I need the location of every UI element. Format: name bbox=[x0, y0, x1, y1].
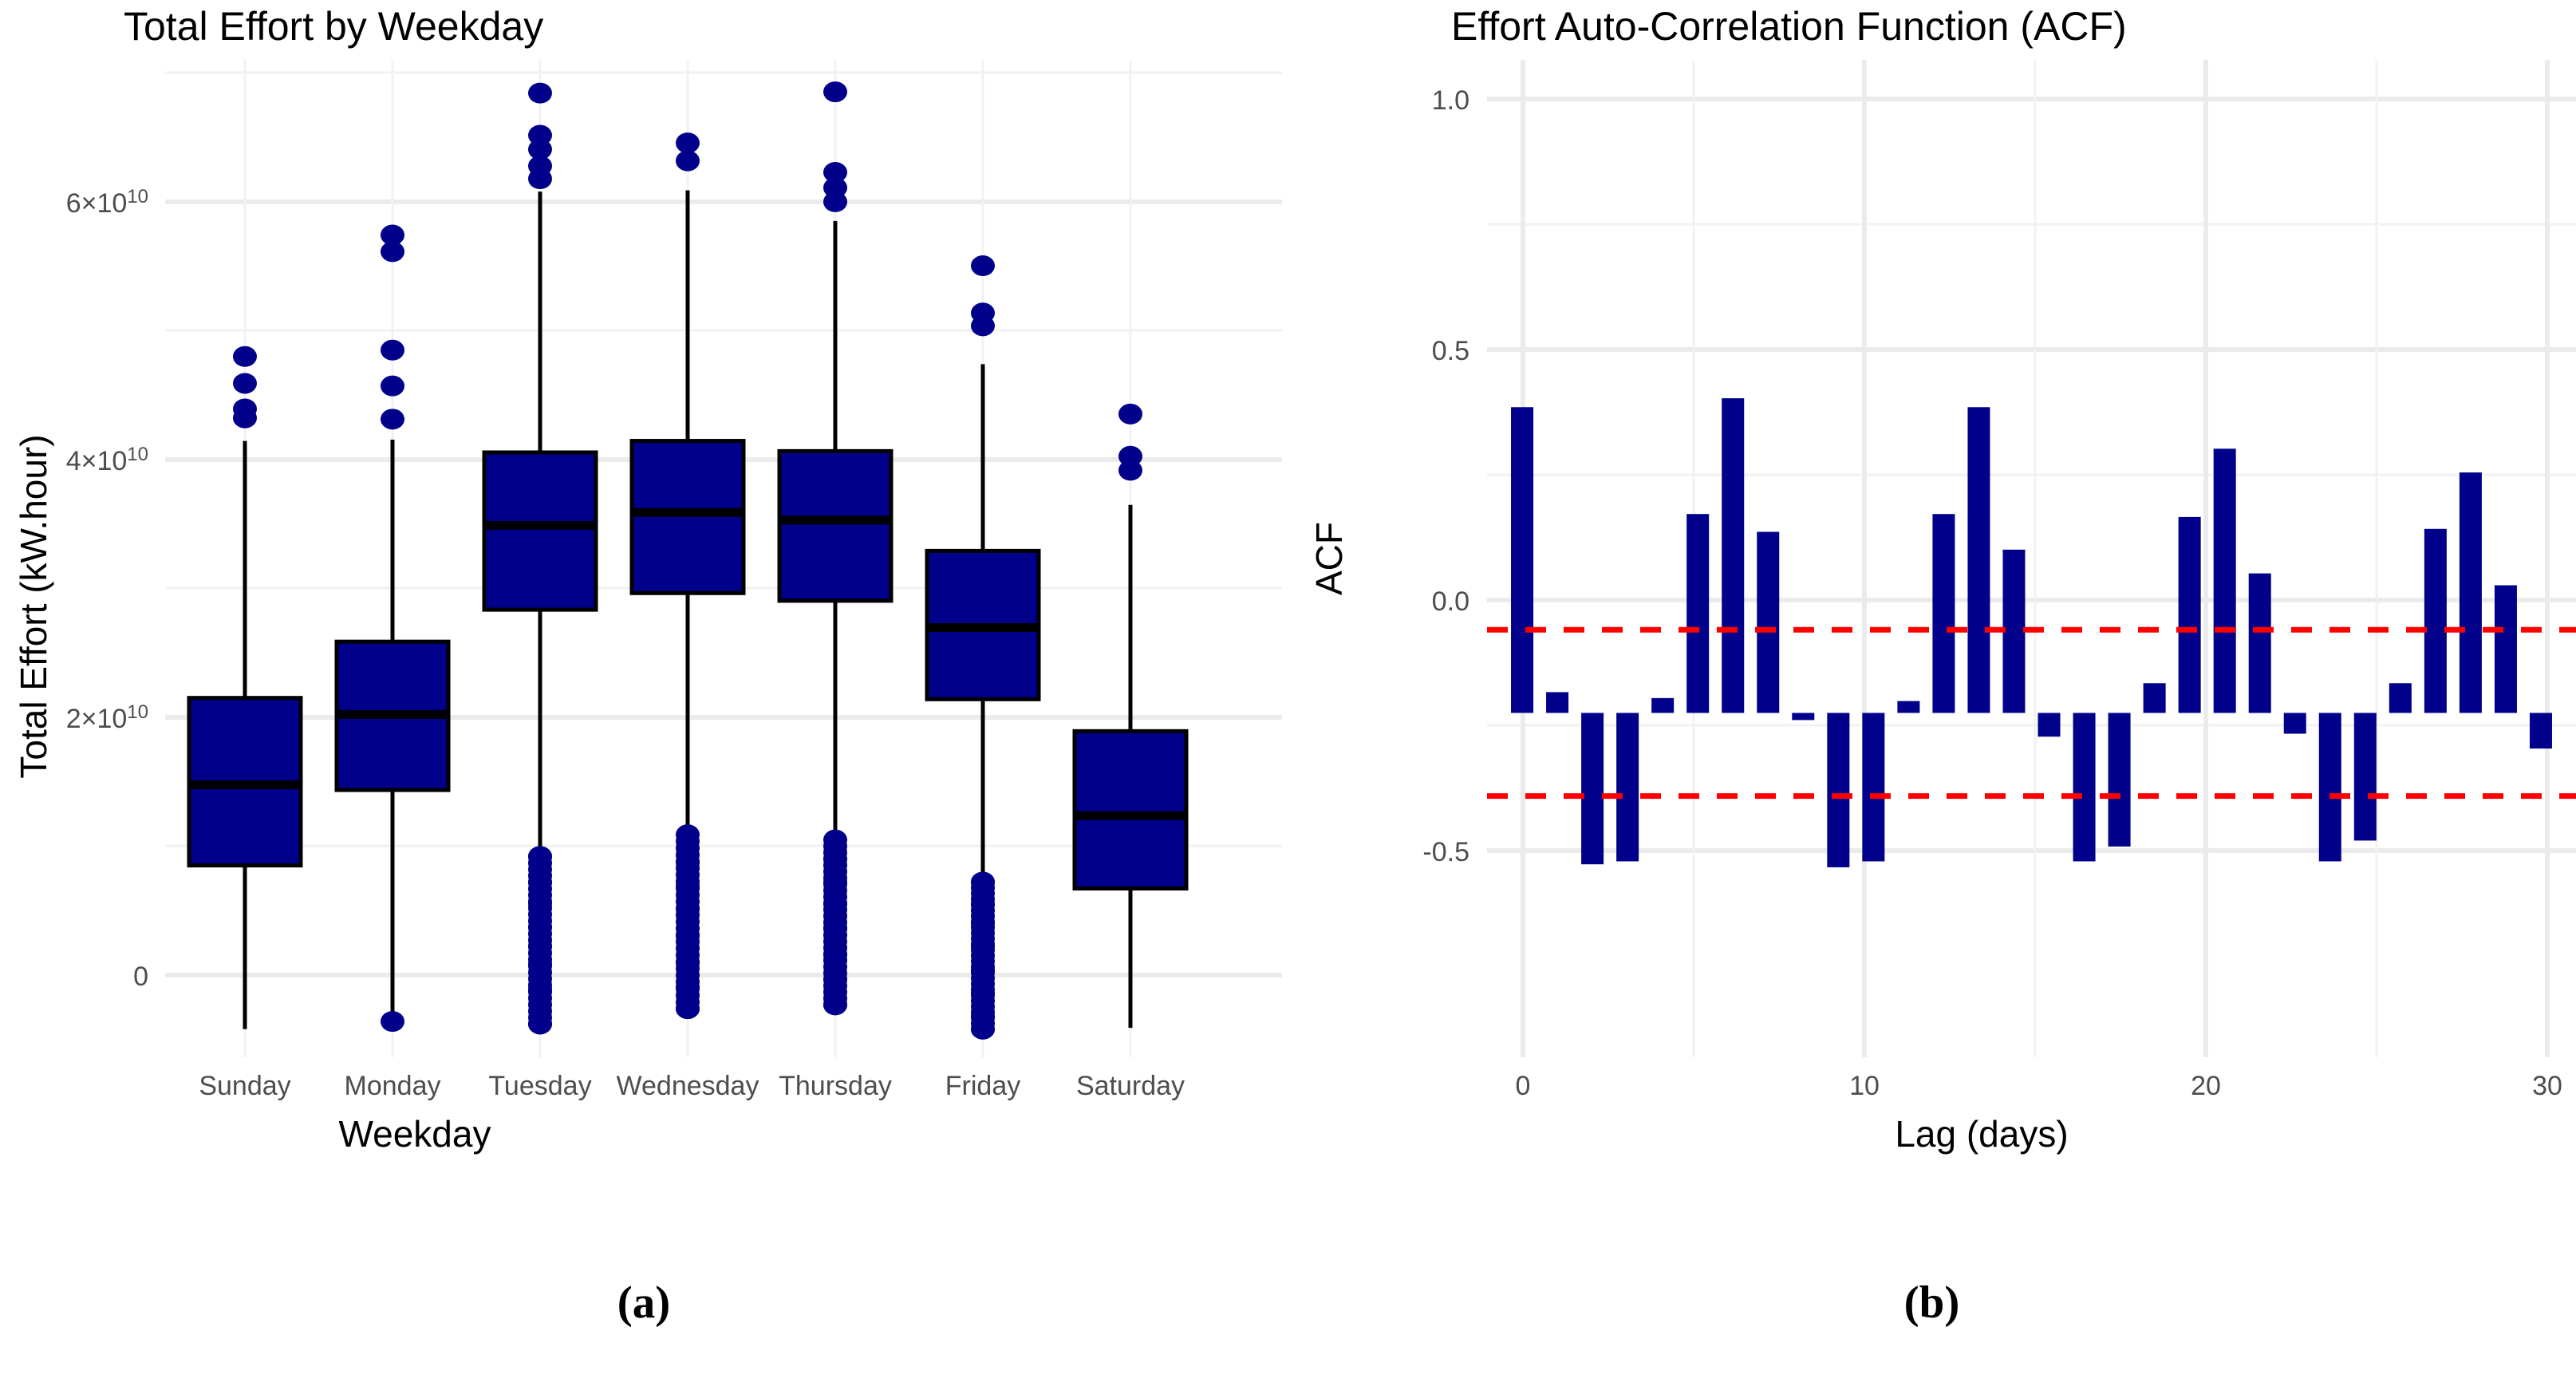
x-tick-10: 10 bbox=[1849, 1071, 1880, 1101]
acf-bar-lag-20 bbox=[2179, 517, 2201, 713]
acf-bar-lag-5 bbox=[1651, 698, 1674, 713]
outlier-tuesday-4 bbox=[528, 168, 552, 189]
outlier-sunday-3 bbox=[233, 408, 257, 428]
panel-b-x-axis-title: Lag (days) bbox=[1895, 1113, 2068, 1155]
acf-bar-lag-9 bbox=[1792, 713, 1814, 720]
x-tick-tuesday: Tuesday bbox=[488, 1071, 591, 1101]
figure-container: Total Effort by Weekday Total Effort (kW… bbox=[0, 0, 2576, 1390]
acf-svg: Effort Auto-Correlation Function (ACF) A… bbox=[1288, 0, 2576, 1293]
box-saturday bbox=[1075, 731, 1186, 888]
panel-a-boxplot: Total Effort by Weekday Total Effort (kW… bbox=[0, 0, 1288, 1390]
acf-bar-lag-13 bbox=[1932, 514, 1955, 713]
y-tick-6e10: 6×1010 bbox=[66, 186, 148, 219]
outlier-friday-0 bbox=[971, 255, 995, 276]
y-tick-0: 0 bbox=[133, 962, 148, 992]
outlier-sunday-0 bbox=[233, 346, 257, 367]
acf-bar-lag-8 bbox=[1757, 532, 1779, 713]
boxplot-svg: Total Effort by Weekday Total Effort (kW… bbox=[0, 0, 1288, 1293]
acf-bar-lag-28 bbox=[2460, 472, 2482, 713]
acf-bar-lag-19 bbox=[2144, 683, 2166, 713]
acf-bar-lag-11 bbox=[1862, 713, 1884, 861]
acf-bar-lag-1 bbox=[1511, 407, 1533, 713]
acf-bar-lag-4 bbox=[1616, 713, 1639, 861]
panel-a-y-tick-labels: 0 2×1010 4×1010 6×1010 bbox=[66, 186, 148, 992]
acf-bar-lag-14 bbox=[1967, 407, 1990, 713]
y-tick-4e10: 4×1010 bbox=[66, 444, 148, 476]
box-tuesday bbox=[484, 452, 596, 610]
outlier-thursday-0 bbox=[823, 81, 847, 102]
outlier-cluster-wednesday bbox=[676, 831, 700, 1020]
box-wednesday bbox=[632, 441, 744, 594]
panel-b-plot-background bbox=[1487, 60, 2576, 1057]
acf-bar-lag-6 bbox=[1686, 514, 1709, 713]
acf-bar-lag-12 bbox=[1897, 701, 1919, 713]
x-tick-thursday: Thursday bbox=[779, 1071, 892, 1101]
acf-bar-lag-23 bbox=[2284, 713, 2306, 733]
panel-a-title: Total Effort by Weekday bbox=[124, 4, 543, 49]
outlier-cluster-thursday bbox=[823, 836, 847, 1016]
outlier-tuesday-0 bbox=[528, 83, 552, 104]
x-tick-sunday: Sunday bbox=[199, 1071, 290, 1101]
acf-bar-lag-15 bbox=[2002, 550, 2025, 713]
acf-bar-lag-21 bbox=[2214, 448, 2236, 713]
acf-bar-lag-10 bbox=[1827, 713, 1849, 867]
panel-b-acf: Effort Auto-Correlation Function (ACF) A… bbox=[1288, 0, 2576, 1390]
x-tick-wednesday: Wednesday bbox=[617, 1071, 759, 1101]
acf-bar-lag-3 bbox=[1581, 713, 1604, 864]
acf-bar-lag-7 bbox=[1722, 398, 1744, 713]
y-tick-neg-0-5: -0.5 bbox=[1422, 837, 1469, 867]
panel-a-y-axis-title: Total Effort (kW.hour) bbox=[13, 434, 54, 778]
acf-bar-lag-27 bbox=[2424, 529, 2447, 713]
y-tick-2e10: 2×1010 bbox=[66, 701, 148, 734]
box-thursday bbox=[779, 451, 891, 601]
outlier-monday-4 bbox=[381, 409, 404, 429]
outlier-friday-2 bbox=[971, 315, 995, 336]
acf-bar-lag-24 bbox=[2319, 713, 2341, 861]
outlier-cluster-friday bbox=[971, 871, 995, 1039]
outlier-monday-1 bbox=[381, 241, 404, 262]
x-tick-30: 30 bbox=[2532, 1071, 2562, 1101]
outlier-thursday-3 bbox=[823, 192, 847, 212]
acf-bar-lag-25 bbox=[2354, 713, 2377, 840]
outlier-wednesday-1 bbox=[676, 151, 700, 172]
x-tick-friday: Friday bbox=[945, 1071, 1020, 1101]
outlier-sunday-1 bbox=[233, 373, 257, 393]
outlier-monday-2 bbox=[381, 340, 404, 361]
y-tick-0-5: 0.5 bbox=[1432, 336, 1469, 366]
acf-bar-lag-18 bbox=[2109, 713, 2131, 846]
panel-a-x-axis-title: Weekday bbox=[339, 1113, 491, 1155]
panel-a-x-tick-labels: Sunday Monday Tuesday Wednesday Thursday… bbox=[199, 1071, 1185, 1101]
x-tick-0: 0 bbox=[1516, 1071, 1531, 1101]
outlier-cluster-tuesday bbox=[528, 846, 552, 1034]
outlier-saturday-0 bbox=[1118, 404, 1142, 425]
outlier-monday-3 bbox=[381, 376, 404, 397]
y-tick-0-0: 0.0 bbox=[1432, 586, 1469, 617]
acf-bar-lag-22 bbox=[2249, 574, 2271, 713]
acf-bar-lag-30 bbox=[2530, 713, 2552, 748]
x-tick-monday: Monday bbox=[345, 1071, 441, 1101]
panel-b-caption: (b) bbox=[1288, 1277, 2576, 1329]
acf-bar-lag-16 bbox=[2038, 713, 2061, 736]
acf-bar-lag-26 bbox=[2389, 683, 2412, 713]
acf-bar-lag-29 bbox=[2495, 585, 2517, 713]
y-tick-1-0: 1.0 bbox=[1432, 85, 1469, 116]
panel-b-y-tick-labels: 1.0 0.5 0.0 -0.5 bbox=[1422, 85, 1469, 867]
panel-b-x-tick-labels: 0 10 20 30 bbox=[1516, 1071, 2562, 1101]
outlier-wednesday-0 bbox=[676, 132, 700, 153]
acf-bar-lag-17 bbox=[2073, 713, 2096, 861]
outlier-saturday-2 bbox=[1118, 460, 1142, 480]
panel-b-y-axis-title: ACF bbox=[1308, 522, 1350, 595]
outlier-monday-5 bbox=[381, 1011, 404, 1032]
x-tick-saturday: Saturday bbox=[1076, 1071, 1185, 1101]
x-tick-20: 20 bbox=[2191, 1071, 2221, 1101]
acf-bar-lag-2 bbox=[1546, 692, 1568, 713]
panel-a-caption: (a) bbox=[0, 1277, 1288, 1329]
panel-b-title: Effort Auto-Correlation Function (ACF) bbox=[1451, 4, 2127, 49]
